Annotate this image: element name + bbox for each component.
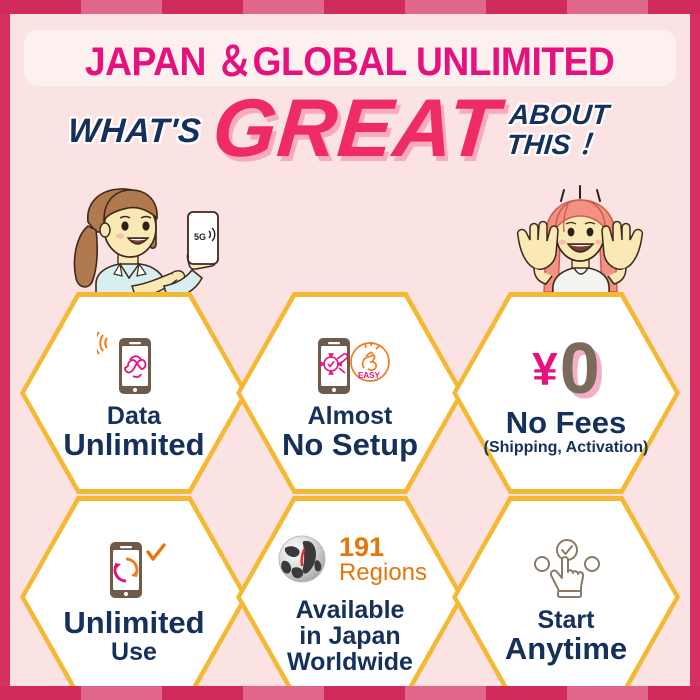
phone-setup-easy-icon: EASY <box>308 329 392 401</box>
feature-card-no-fees[interactable]: ¥ 0 No Fees (Shipping, Activation) <box>452 292 680 494</box>
svg-text:5G: 5G <box>194 232 206 242</box>
easy-badge-text: EASY <box>358 371 380 380</box>
regions-text: 191 Regions <box>339 534 427 585</box>
headline-group: WHAT'S GREAT ABOUT THIS ！ <box>10 90 690 180</box>
feature-label: Start Anytime <box>505 607 627 665</box>
feature-label: Almost No Setup <box>282 403 418 461</box>
headline-great: GREAT <box>209 82 503 176</box>
phone-infinity-icon <box>97 329 171 401</box>
feature-line2: Anytime <box>505 633 627 665</box>
regions-count: 191 <box>339 534 427 561</box>
feature-card-start-anytime[interactable]: Start Anytime <box>452 496 680 686</box>
bottom-stripe-band <box>0 686 700 700</box>
feature-label: Available in Japan Worldwide <box>287 597 413 675</box>
page-title: JAPAN ＆GLOBAL UNLIMITED <box>85 29 614 87</box>
feature-line2: Unlimited <box>63 429 204 461</box>
hand-tap-check-icon <box>526 533 606 605</box>
regions-icon-group: 191 Regions <box>273 523 427 595</box>
feature-line1: No Fees <box>484 407 649 439</box>
feature-line1: Available <box>287 597 413 623</box>
feature-subtext: (Shipping, Activation) <box>484 440 649 457</box>
feature-line1: Data <box>63 403 204 429</box>
feature-line1: Unlimited <box>63 607 204 639</box>
feature-card-no-setup[interactable]: EASY Almost No Setup <box>236 292 464 494</box>
yen-symbol: ¥ <box>532 346 558 392</box>
feature-card-unlimited-use[interactable]: Unlimited Use <box>20 496 248 686</box>
feature-label: Data Unlimited <box>63 403 204 461</box>
feature-line1: Almost <box>282 403 418 429</box>
feature-line2: Use <box>63 639 204 665</box>
regions-word: Regions <box>339 561 427 585</box>
yen-zero-icon: ¥ 0 <box>532 333 600 405</box>
feature-hexagon-grid: Data Unlimited <box>10 284 690 684</box>
headline-about-line1: ABOUT <box>508 100 610 130</box>
headline-about: ABOUT THIS ！ <box>505 100 610 160</box>
feature-line2: No Setup <box>282 429 418 461</box>
title-bar: JAPAN ＆GLOBAL UNLIMITED <box>24 30 676 86</box>
feature-label: No Fees (Shipping, Activation) <box>484 407 649 457</box>
feature-label: Unlimited Use <box>63 607 204 665</box>
poster-canvas: JAPAN ＆GLOBAL UNLIMITED WHAT'S GREAT ABO… <box>10 14 690 686</box>
feature-card-data-unlimited[interactable]: Data Unlimited <box>20 292 248 494</box>
globe-icon <box>273 530 331 588</box>
zero-amount: 0 <box>560 333 600 405</box>
headline-about-line2: THIS ！ <box>505 130 607 160</box>
feature-line2: in Japan <box>287 623 413 649</box>
feature-card-available-worldwide[interactable]: 191 Regions Available in Japan Worldwide <box>236 496 464 686</box>
feature-line3: Worldwide <box>287 649 413 675</box>
feature-line1: Start <box>505 607 627 633</box>
phone-refresh-check-icon <box>96 533 172 605</box>
top-stripe-band <box>0 0 700 14</box>
headline-whats: WHAT'S <box>67 112 203 151</box>
